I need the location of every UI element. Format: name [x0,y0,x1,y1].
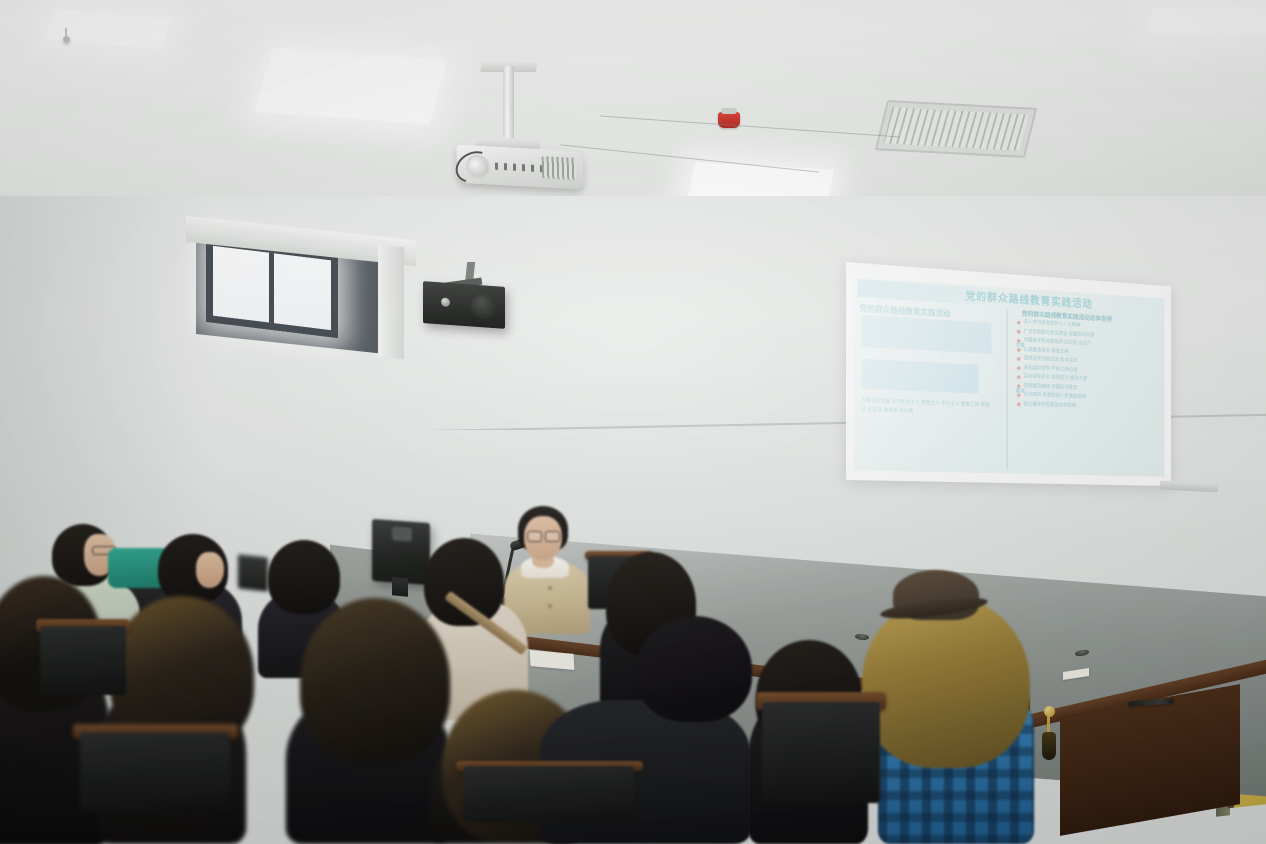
slide-content-box [862,359,979,394]
speaker-woofer-icon [471,292,497,320]
projected-slide: 党的群众路线教育实践活动 党的群众路线教育实践活动 主题 要求 为民务实清廉 反… [854,277,1165,477]
chair-back [40,626,126,695]
wall-mounted-speaker [423,281,505,329]
slide-content-box [862,315,992,354]
conference-room-photo: 党的群众路线教育实践活动 党的群众路线教育实践活动 主题 要求 为民务实清廉 反… [0,0,1266,844]
window-mullion [269,253,274,324]
sprinkler-stem [65,28,67,37]
wall-column [378,245,404,360]
conference-chair [40,626,126,722]
chair-back [464,766,634,822]
attendee-hair [862,596,1030,768]
slide-column-divider [1006,308,1007,469]
attendee-face [196,552,224,588]
conference-chair [464,766,634,844]
jacket-button [548,604,552,608]
conference-chair [762,702,880,842]
monitor-stand [392,577,408,596]
projector-mount-pole [503,66,514,142]
chair-back [80,732,230,813]
attendee-hair [636,616,752,722]
ceiling-light-panel [1148,8,1266,34]
monitor-hinge [392,526,412,541]
computer-monitor [238,554,268,591]
projector-vent [542,156,577,180]
chair-back [762,702,880,803]
conference-chair [80,732,230,844]
eyeglasses-icon [527,531,560,540]
computer-monitor [372,519,430,585]
sprinkler-head-icon [63,36,70,43]
decorative-tassel [1042,706,1056,762]
projection-screen: 党的群众路线教育实践活动 党的群众路线教育实践活动 主题 要求 为民务实清廉 反… [846,262,1171,486]
speaker-tweeter-icon [441,297,450,307]
attendee-hair [268,540,340,614]
projector-controls [495,163,543,173]
slide-bullet-list: 深入学习贯彻党的十八大精神 广泛听取群众意见建议 查摆突出问题 开展批评和自我批… [1016,319,1162,415]
hvac-air-diffuser [875,100,1037,158]
attendee-hair [300,598,450,764]
tassel-fringe [1042,732,1056,760]
slide-left-paragraph: 为民务实清廉 反对形式主义 官僚主义 享乐主义 奢靡之风 照镜子 正衣冠 洗洗澡… [862,397,992,420]
jacket-button [548,586,552,590]
ceiling-light-panel [255,48,448,124]
